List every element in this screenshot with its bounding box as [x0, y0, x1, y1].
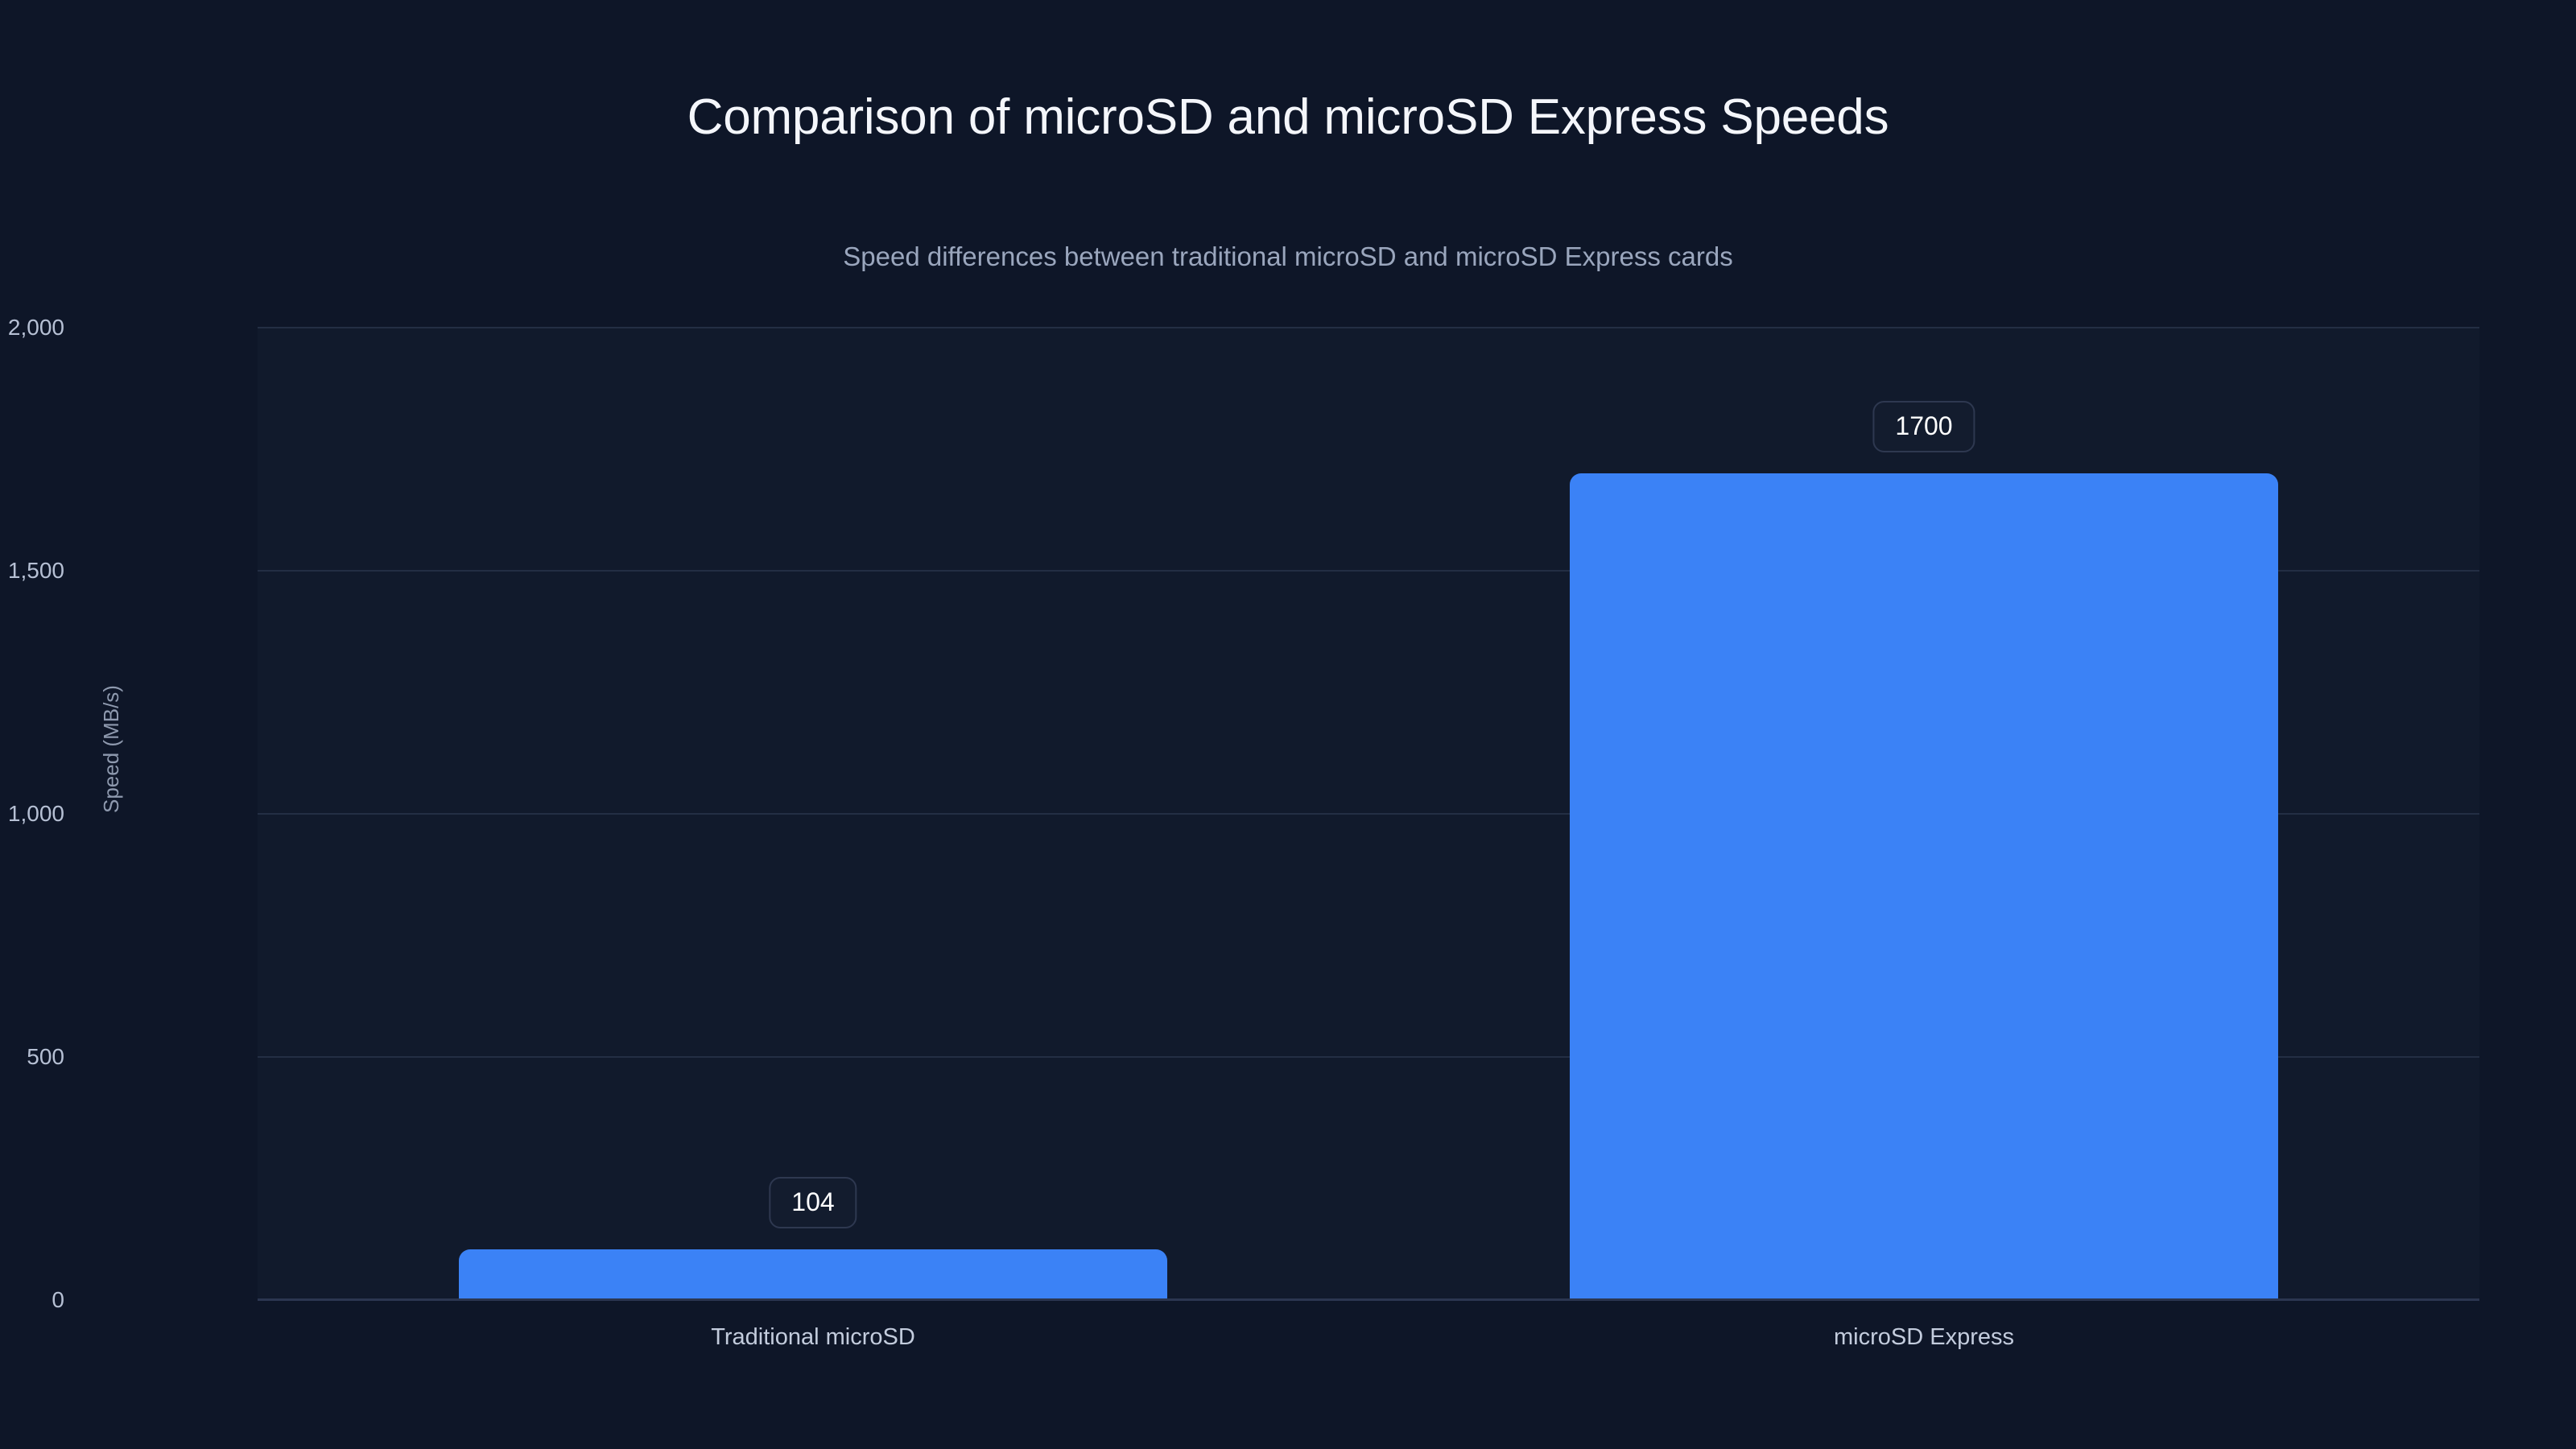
- x-axis-category-label: Traditional microSD: [711, 1324, 915, 1351]
- chart-title: Comparison of microSD and microSD Expres…: [0, 89, 2576, 146]
- x-axis-category-label: microSD Express: [1834, 1324, 2014, 1351]
- bar[interactable]: [459, 1249, 1166, 1300]
- y-axis-tick-label: 1,500: [0, 558, 64, 584]
- y-axis-tick-label: 500: [0, 1044, 64, 1070]
- bar-value-label: 104: [769, 1177, 857, 1228]
- y-axis-title: Speed (MB/s): [99, 685, 124, 813]
- y-axis-tick-label: 1,000: [0, 801, 64, 827]
- y-axis-tick-label: 0: [0, 1287, 64, 1313]
- x-axis-line: [258, 1298, 2479, 1301]
- chart-page: Comparison of microSD and microSD Expres…: [0, 0, 2576, 1449]
- bar-value-label: 1700: [1872, 401, 1975, 452]
- gridline: [258, 327, 2479, 328]
- plot-area: [258, 328, 2479, 1300]
- y-axis-tick-label: 2,000: [0, 315, 64, 341]
- chart-subtitle: Speed differences between traditional mi…: [0, 242, 2576, 272]
- bar[interactable]: [1570, 473, 2277, 1300]
